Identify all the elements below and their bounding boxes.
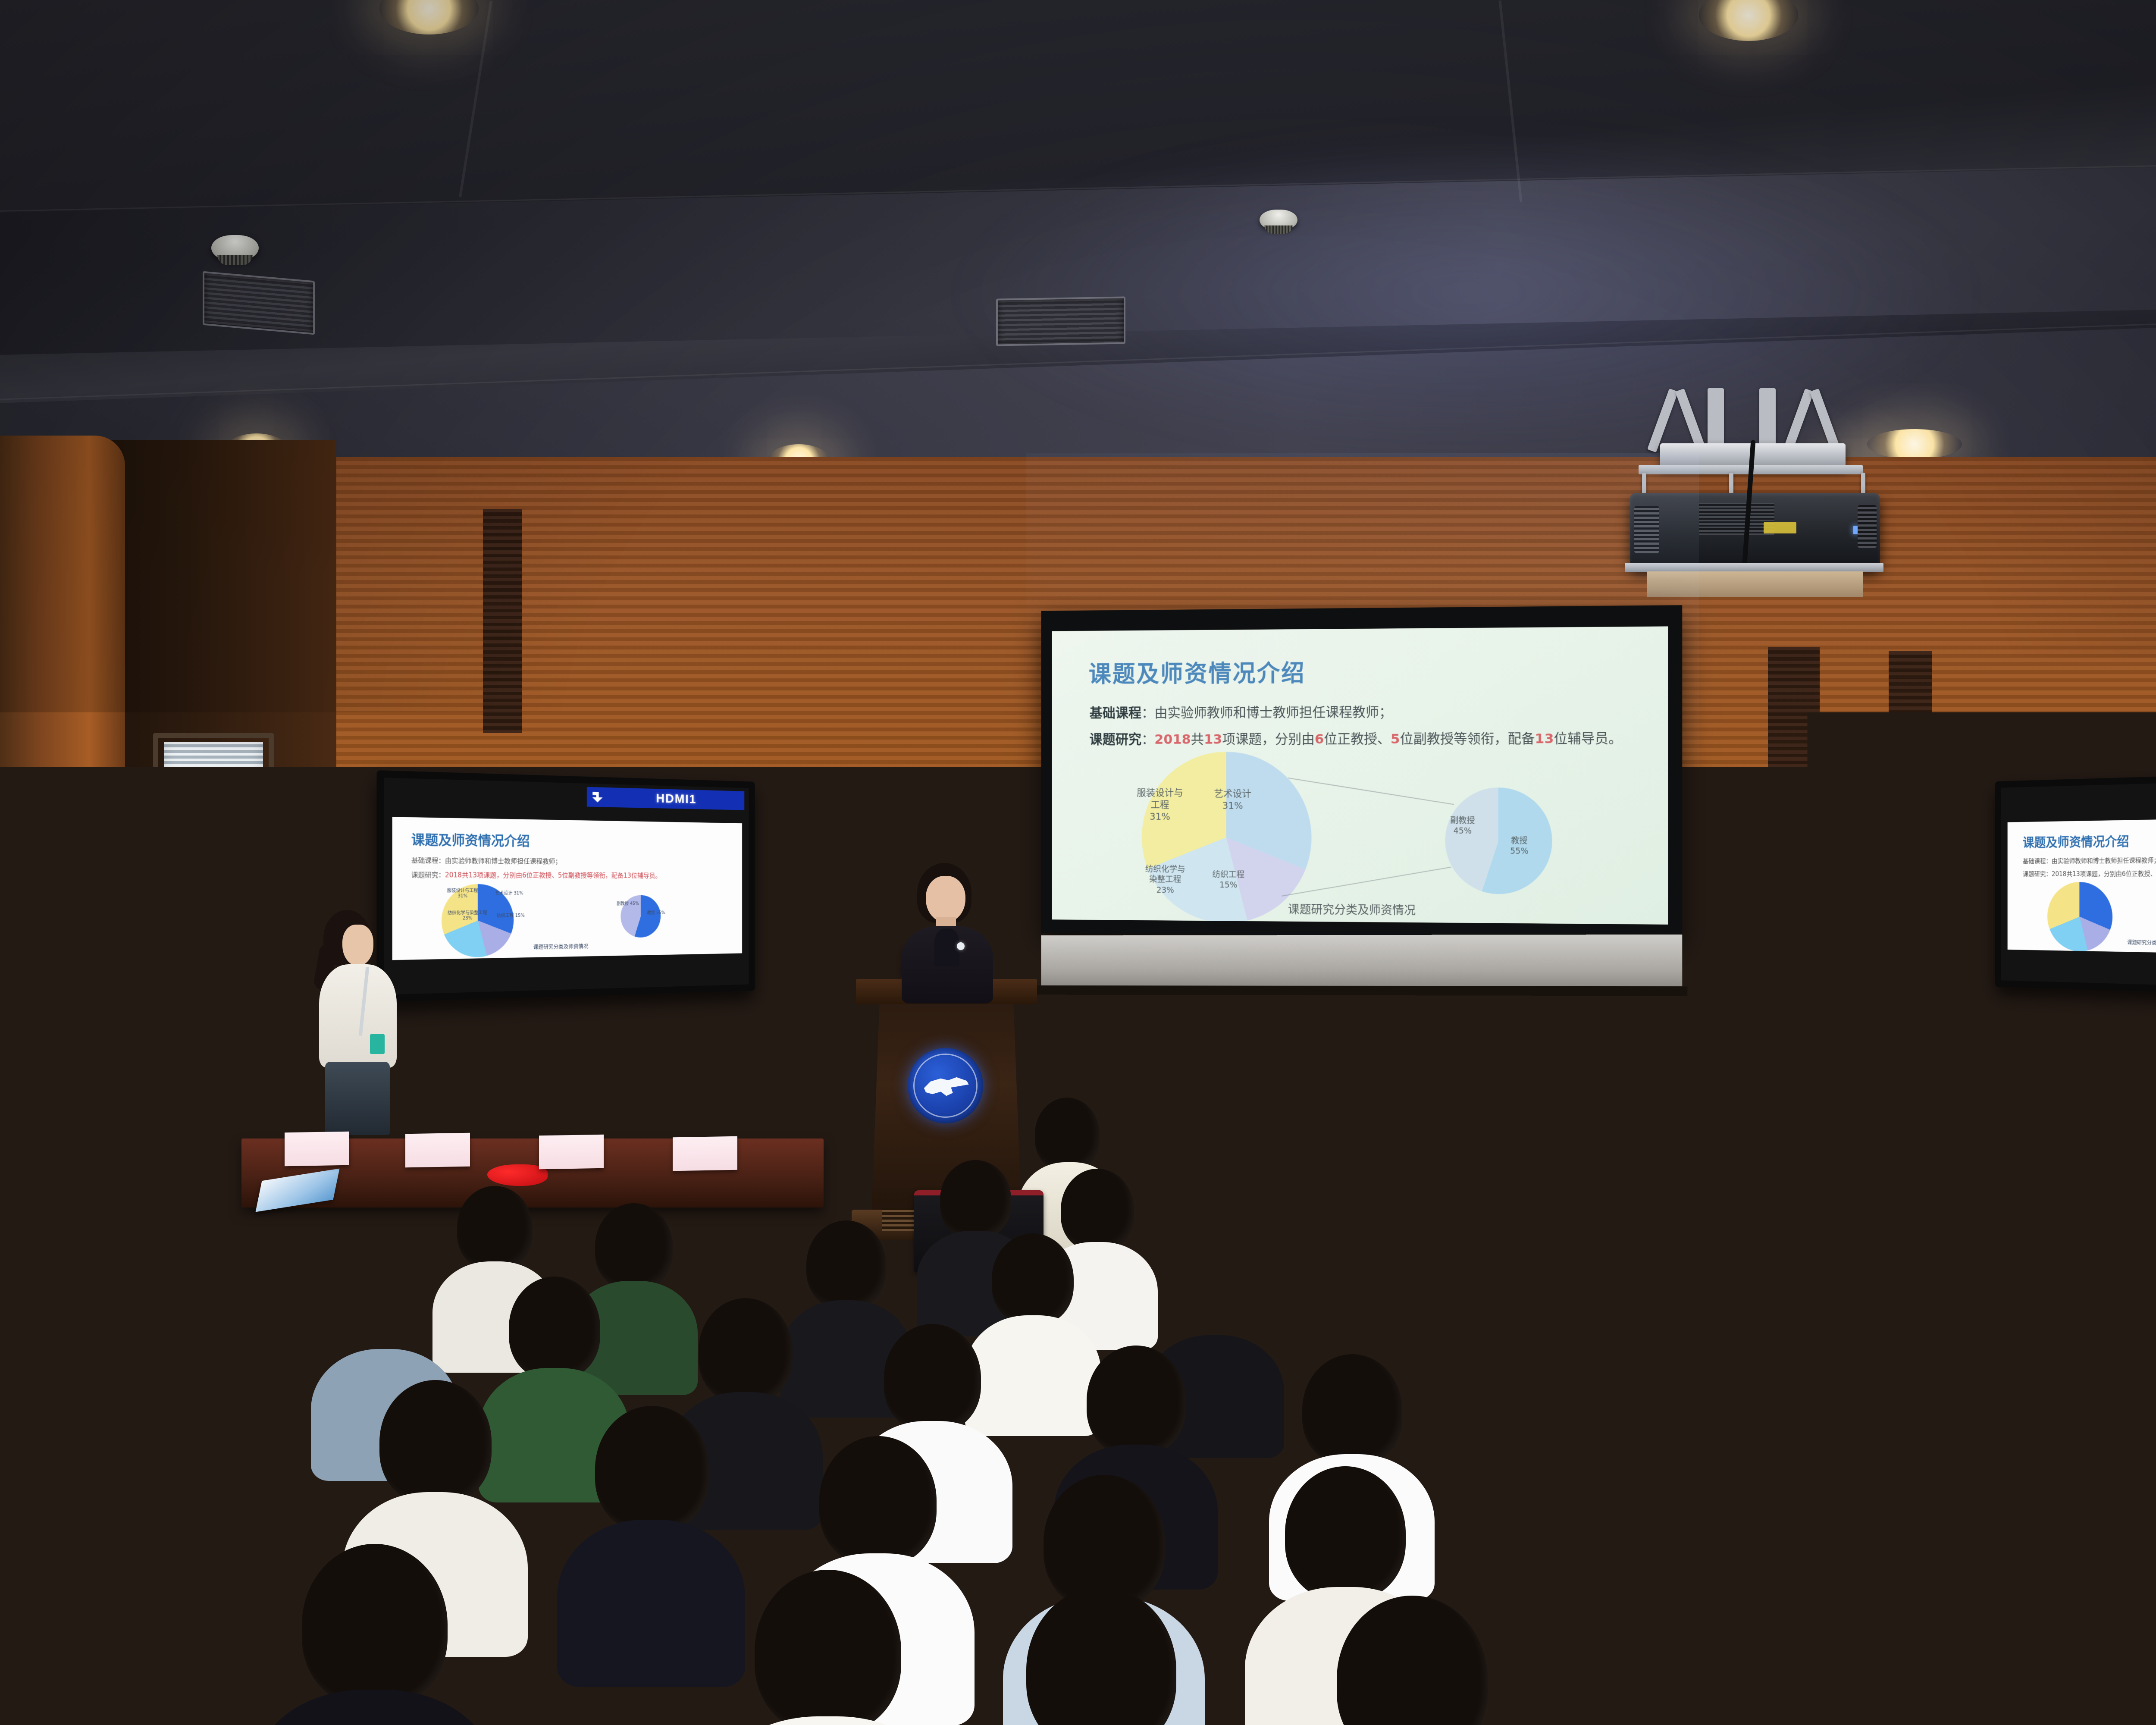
head [1742, 1414, 1859, 1544]
tv-slide-line-1: 基础课程：由实验师教师和博士教师担任课程教师； [411, 856, 561, 866]
acoustic-strip [483, 509, 522, 733]
projector-status-led [1853, 526, 1858, 534]
projector-lift-housing [1647, 571, 1863, 597]
window-frame [153, 733, 274, 1087]
projection-screen-unit: 课题及师资情况介绍 基础课程：由实验师教师和博士教师担任课程教师； 课题研究：2… [1035, 608, 1677, 996]
head [457, 1186, 533, 1270]
presenter-brooch [957, 942, 965, 950]
lift-arm [1810, 389, 1841, 452]
tv-slide-left: 课题及师资情况介绍 基础课程：由实验师教师和博士教师担任课程教师； 课题研究：2… [392, 817, 742, 960]
head [884, 1324, 981, 1432]
tv-slide-line-2: 课题研究：2018共13项课题，分别由6位正教授、5位副教授等领衔，配备13位辅… [2023, 869, 2156, 878]
red-cloth-item [487, 1164, 548, 1186]
tv-pie-label: 副教授 45% [614, 902, 642, 907]
head [1087, 1345, 1186, 1456]
projection-screen: 课题及师资情况介绍 基础课程：由实验师教师和博士教师担任课程教师； 课题研究：2… [1041, 605, 1682, 938]
shirt [84, 1460, 267, 1622]
tv-panel-left[interactable]: HDMI1 课题及师资情况介绍 基础课程：由实验师教师和博士教师担任课程教师； … [377, 770, 755, 1002]
head [1285, 1466, 1406, 1600]
head [819, 1436, 937, 1565]
slide-bullet-2: 课题研究：2018共13项课题，分别由6位正教授、5位副教授等领衔，配备13位辅… [1090, 728, 1622, 748]
shirt [965, 1315, 1101, 1436]
slide-bullet-1-text: 由实验师教师和博士教师担任课程教师； [1154, 705, 1392, 721]
slide-title: 课题及师资情况介绍 [1089, 654, 1306, 689]
tv-slide-title: 课题及师资情况介绍 [411, 828, 530, 850]
shirt [557, 1520, 745, 1687]
head [1501, 1440, 1620, 1572]
lift-arm [1647, 389, 1678, 452]
tv-pie-label: 纺织工程 15% [493, 913, 528, 919]
screen-bottom-valance [1041, 935, 1682, 987]
slide-bullet-1: 基础课程：由实验师教师和博士教师担任课程教师； [1090, 701, 1392, 721]
head [164, 1242, 252, 1340]
shirt [1461, 1559, 1658, 1725]
presenter-at-podium [886, 860, 1007, 1003]
head [379, 1380, 492, 1504]
name-placard [285, 1132, 349, 1167]
slide-chart-caption: 课题研究分类及师资情况 [1288, 900, 1416, 918]
pie-chart-subjects [1142, 752, 1311, 924]
head [1302, 1354, 1402, 1465]
chart-leader-line [1282, 867, 1451, 897]
slide-bullet-1-label: 基础课程 [1090, 706, 1142, 721]
head [1906, 1229, 1988, 1320]
head [1272, 1091, 1337, 1164]
hvac-vent [996, 296, 1125, 346]
head [121, 1350, 231, 1472]
lift-arm [1783, 389, 1814, 452]
head [1725, 1238, 1808, 1330]
head [595, 1406, 709, 1532]
acoustic-strip [1768, 647, 1820, 1156]
head [806, 1220, 886, 1309]
standing-attendee-left [310, 910, 410, 1134]
ceiling-seam [459, 1, 492, 197]
head [1173, 1251, 1257, 1345]
tv-slide-title: 课题及师资情况介绍 [2023, 831, 2129, 850]
hvac-vent [203, 271, 315, 335]
lift-arm [1675, 389, 1706, 452]
projector-warning-label [1764, 522, 1796, 533]
tv-slide-caption: 课题研究分类及师资情况 [2127, 939, 2156, 947]
projector-grille [1699, 503, 1774, 535]
university-dove-emblem-icon [908, 1048, 983, 1123]
tv-pie-label: 艺术设计 31% [490, 891, 529, 896]
head [595, 1203, 673, 1289]
head [1570, 1089, 1634, 1160]
name-placard [673, 1136, 737, 1171]
head [302, 1544, 448, 1706]
head [1509, 1345, 1608, 1456]
tv-slide-line-2: 课题研究：2018共13项课题，分别由6位正教授、5位副教授等领衔，配备13位辅… [411, 870, 661, 880]
head [1035, 1098, 1100, 1171]
head [341, 1259, 430, 1359]
hdmi-input-icon [589, 790, 606, 804]
name-placard [539, 1135, 604, 1170]
head [2001, 1552, 2147, 1716]
head [509, 1276, 600, 1379]
head [1656, 1186, 1731, 1270]
tv-osd-left: HDMI1 [587, 787, 744, 810]
head [992, 1233, 1074, 1325]
tv-pie-label: 服装设计与工程 31% [442, 888, 483, 899]
tv-pie-label: 教授 55% [644, 911, 668, 916]
smoke-detector [211, 235, 259, 261]
head [1889, 1091, 1951, 1160]
curved-wall-left [0, 436, 125, 1212]
projector-lift-frame [1625, 563, 1883, 572]
ceiling-projector-assembly [1621, 388, 1919, 595]
presenter-top [934, 928, 959, 966]
lift-column [1759, 388, 1776, 448]
badge [370, 1034, 385, 1054]
chart-leader-line [1288, 778, 1454, 805]
smoke-detector [1260, 210, 1297, 230]
head [2078, 1233, 2156, 1324]
head [1061, 1169, 1134, 1251]
acoustic-strip [1889, 651, 1932, 1147]
white-tshirt [319, 964, 397, 1068]
projector-body [1630, 493, 1880, 568]
head [940, 1160, 1011, 1239]
projected-slide: 课题及师资情况介绍 基础课程：由实验师教师和博士教师担任课程教师； 课题研究：2… [1052, 626, 1668, 924]
slide-bullet-2-label: 课题研究 [1090, 732, 1142, 747]
presenter-face [926, 876, 965, 922]
tv-pie-chart-subjects [2047, 882, 2112, 952]
head [1445, 1199, 1522, 1285]
head [1785, 1164, 1858, 1245]
head [1363, 1259, 1448, 1354]
tv-source-label: HDMI1 [606, 790, 745, 808]
trousers [325, 1062, 390, 1135]
tv-slide-line-1: 基础课程：由实验师教师和博士教师担任课程教师； [2023, 856, 2156, 866]
tv-slide-caption: 课题研究分类及师资情况 [533, 942, 589, 950]
tv-slide-right: 课题及师资情况介绍 基础课程：由实验师教师和博士教师担任课程教师； 课题研究：2… [2007, 816, 2156, 956]
head [1315, 1182, 1391, 1266]
head [1552, 1251, 1637, 1345]
pie-chart-faculty-rank [1445, 787, 1552, 894]
lift-column [1708, 388, 1724, 448]
tv-panel-right[interactable]: HDMI1 课题及师资情况介绍 基础课程：由实验师教师和博士教师担任课程教师； … [1995, 771, 2156, 997]
lecture-hall-photo: 安全出口 EXIT 课题及师 [0, 0, 2156, 1725]
name-placard [405, 1133, 470, 1168]
head [755, 1570, 901, 1725]
head [699, 1298, 793, 1403]
shirt [1703, 1532, 1897, 1704]
tv-pie-label: 纺织化学与染整工程 23% [445, 911, 489, 922]
projector-vent-right [1858, 505, 1877, 548]
face [342, 925, 373, 966]
projector-vent-left [1634, 506, 1659, 553]
